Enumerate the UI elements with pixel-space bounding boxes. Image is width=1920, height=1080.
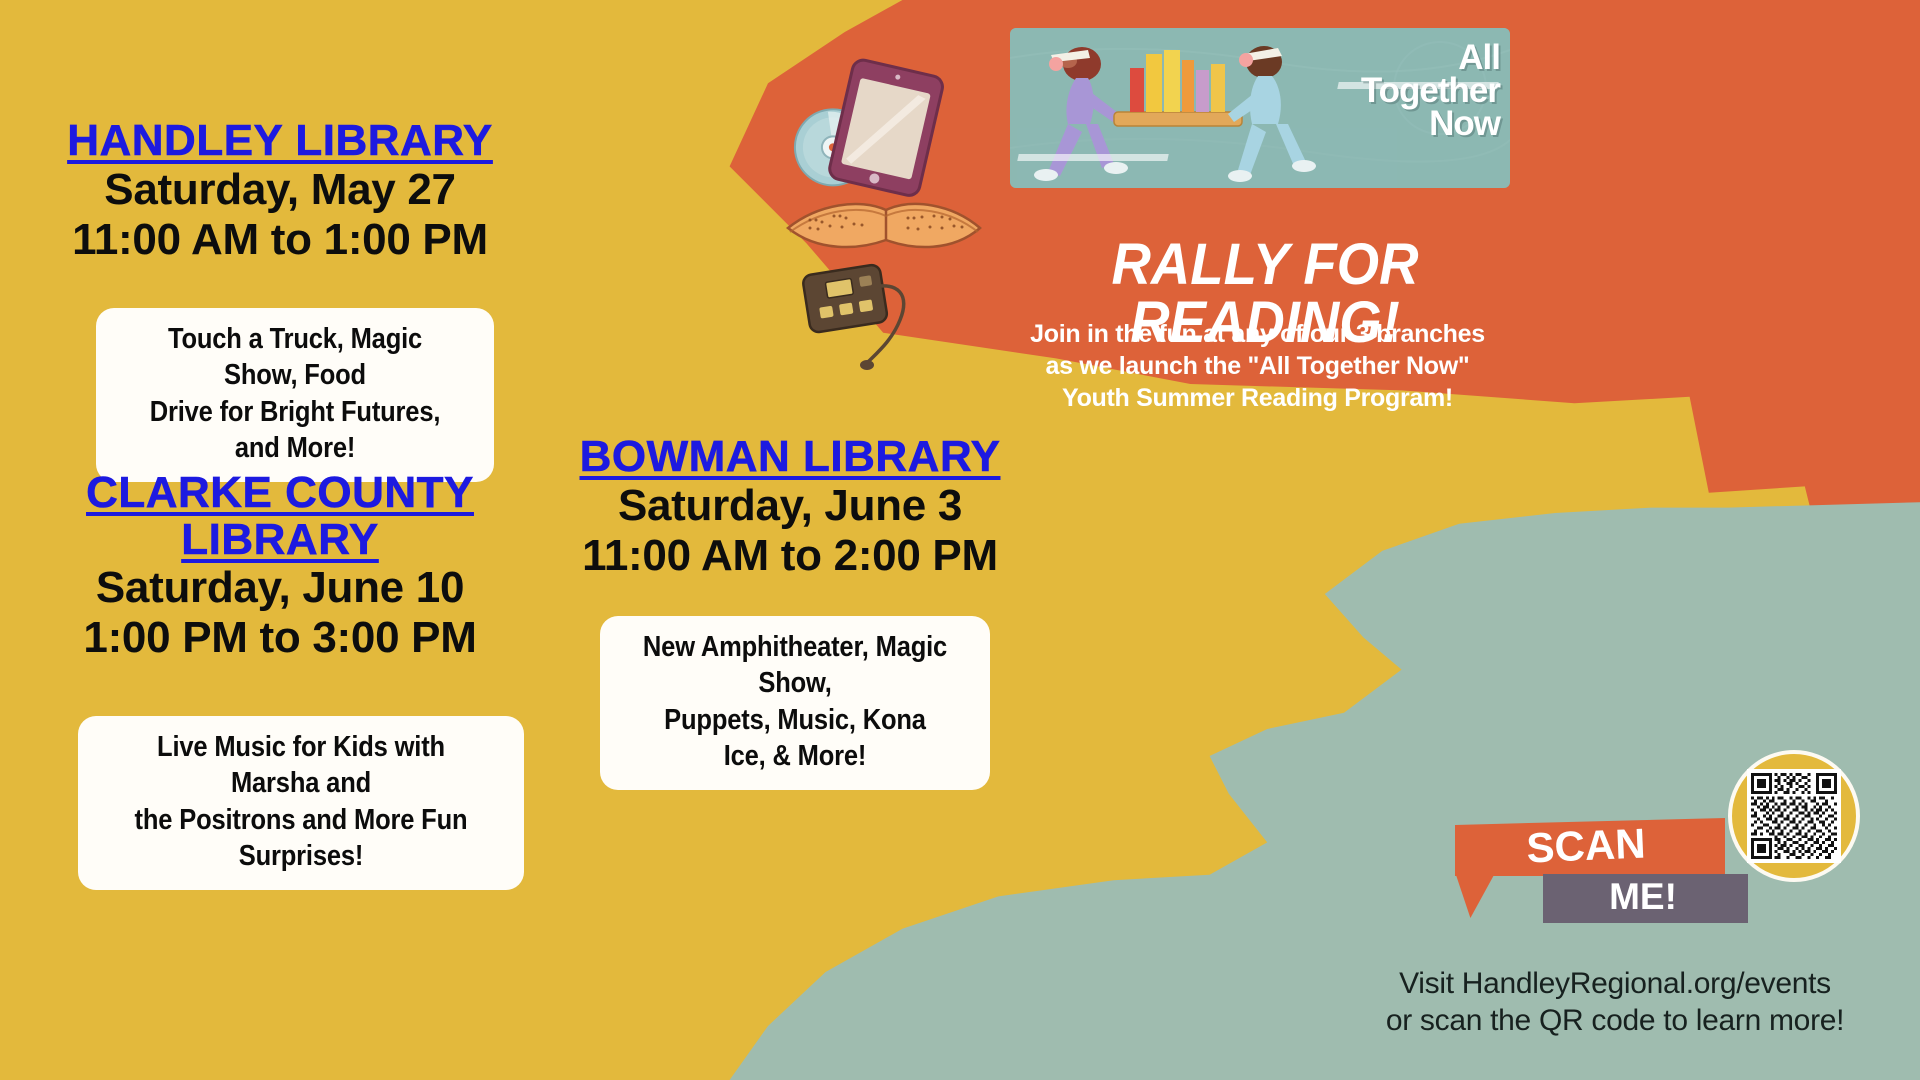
event-details-box-bowman: New Amphitheater, Magic Show, Puppets, M… [600, 616, 990, 790]
logo-line-now: Now [1361, 108, 1500, 141]
event-time-handley: 11:00 AM to 1:00 PM [0, 215, 560, 265]
subhead-line-1: Join in the fun at any of our 3 branches [985, 318, 1530, 350]
details-line-1: Touch a Truck, Magic Show, Food [137, 321, 452, 394]
footer-line-1: Visit HandleyRegional.org/events [1330, 966, 1900, 1003]
event-details-box-clarke-county: Live Music for Kids with Marsha and the … [78, 716, 524, 890]
details-line-1: Live Music for Kids with Marsha and [122, 729, 479, 802]
library-title-clarke-county[interactable]: CLARKE COUNTY LIBRARY [0, 470, 560, 563]
event-date-bowman: Saturday, June 3 [545, 481, 1035, 531]
details-line-2: Drive for Bright Futures, and More! [137, 394, 452, 467]
rally-subhead: Join in the fun at any of our 3 branches… [985, 318, 1530, 414]
event-date-clarke-county: Saturday, June 10 [0, 563, 560, 613]
event-time-clarke-county: 1:00 PM to 3:00 PM [0, 613, 560, 663]
qr-code-icon[interactable] [1747, 769, 1841, 863]
event-block-handley: HANDLEY LIBRARY Saturday, May 27 11:00 A… [0, 118, 560, 265]
library-title-line: CLARKE COUNTY [0, 470, 560, 517]
earbud-tip [860, 360, 874, 370]
details-line-2: Puppets, Music, Kona Ice, & More! [641, 702, 949, 775]
event-block-clarke-county: CLARKE COUNTY LIBRARY Saturday, June 10 … [0, 470, 560, 664]
library-title-line: BOWMAN LIBRARY [545, 434, 1035, 481]
poster-canvas: All Together Now RALLY FOR READING! Join… [0, 0, 1920, 1080]
book-plank [1114, 50, 1242, 126]
audio-player-icon [802, 264, 888, 333]
library-title-handley[interactable]: HANDLEY LIBRARY [0, 118, 560, 165]
braille-book-icon [788, 204, 980, 247]
kid-right-figure [1228, 46, 1316, 182]
subhead-line-3: Youth Summer Reading Program! [985, 382, 1530, 414]
subhead-line-2: as we launch the "All Together Now" [985, 350, 1530, 382]
event-time-bowman: 11:00 AM to 2:00 PM [545, 531, 1035, 581]
footer-line-2: or scan the QR code to learn more! [1330, 1003, 1900, 1040]
library-title-line: HANDLEY LIBRARY [0, 118, 560, 165]
event-date-handley: Saturday, May 27 [0, 165, 560, 215]
logo-line-all: All [1361, 42, 1500, 75]
all-together-now-logo-panel: All Together Now [1010, 28, 1510, 188]
qr-code-badge[interactable] [1728, 750, 1860, 882]
details-line-2: the Positrons and More Fun Surprises! [122, 802, 479, 875]
scan-me-banner: SCAN ME! [1455, 818, 1755, 908]
reading-media-illustration [760, 40, 1020, 380]
library-title-bowman[interactable]: BOWMAN LIBRARY [545, 434, 1035, 481]
footer-visit-text: Visit HandleyRegional.org/events or scan… [1330, 966, 1900, 1039]
kids-carrying-books-illustration [1010, 28, 1326, 188]
ereader-tablet-icon [828, 58, 945, 198]
library-title-line: LIBRARY [0, 517, 560, 564]
me-label: ME! [1543, 876, 1743, 918]
logo-line-together: Together [1361, 75, 1500, 108]
event-details-box-handley: Touch a Truck, Magic Show, Food Drive fo… [96, 308, 494, 482]
all-together-now-wordmark: All Together Now [1361, 42, 1500, 141]
event-block-bowman: BOWMAN LIBRARY Saturday, June 3 11:00 AM… [545, 434, 1035, 581]
details-line-1: New Amphitheater, Magic Show, [641, 629, 949, 702]
logo-dash-bottom [1017, 154, 1168, 161]
